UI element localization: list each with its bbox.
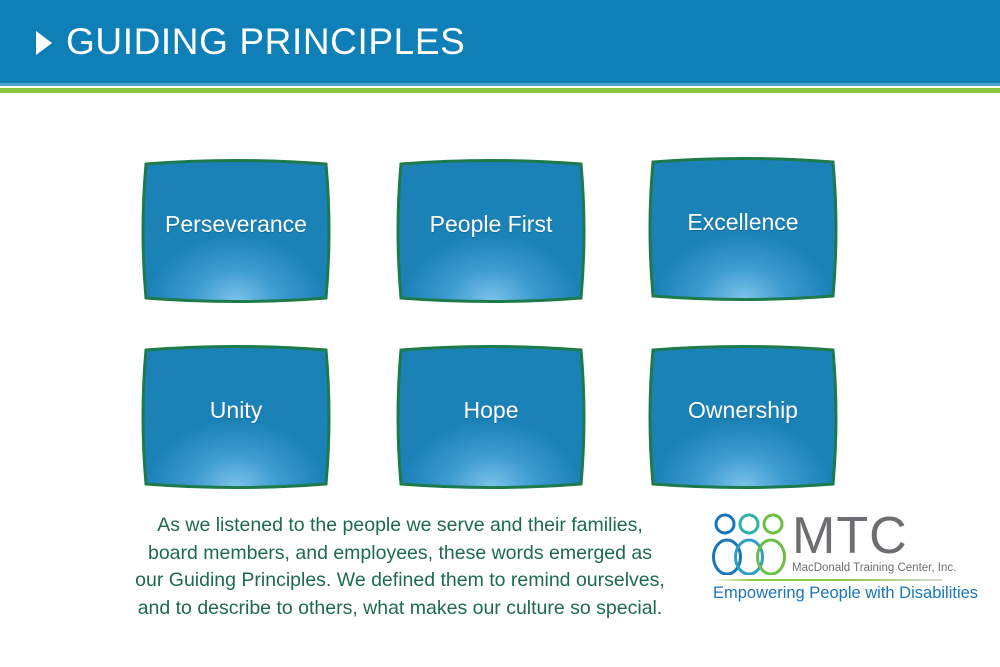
logo-wordmark-group: MTC MacDonald Training Center, Inc. xyxy=(792,511,942,575)
principle-box-perseverance[interactable]: Perseverance xyxy=(136,156,336,306)
principle-box-unity[interactable]: Unity xyxy=(136,342,336,492)
body-line: board members, and employees, these word… xyxy=(120,540,680,568)
mtc-logo: MTC MacDonald Training Center, Inc. Empo… xyxy=(710,513,942,603)
body-line: As we listened to the people we serve an… xyxy=(120,512,680,540)
logo-organization-name: MacDonald Training Center, Inc. xyxy=(792,562,942,574)
principle-box-excellence[interactable]: Excellence xyxy=(643,154,843,304)
logo-wordmark: MTC xyxy=(792,511,942,561)
principle-label: People First xyxy=(391,156,591,306)
three-people-icon xyxy=(710,513,788,575)
logo-divider xyxy=(712,579,942,581)
logo-tagline: Empowering People with Disabilities xyxy=(713,583,945,603)
body-paragraph: As we listened to the people we serve an… xyxy=(120,512,680,623)
body-line: and to describe to others, what makes ou… xyxy=(120,595,680,623)
principle-label: Hope xyxy=(391,342,591,492)
logo-top-row: MTC MacDonald Training Center, Inc. xyxy=(710,513,942,579)
body-line: our Guiding Principles. We defined them … xyxy=(120,567,680,595)
principle-label: Ownership xyxy=(643,342,843,492)
principle-box-ownership[interactable]: Ownership xyxy=(643,342,843,492)
principle-label: Excellence xyxy=(643,154,843,304)
principle-box-hope[interactable]: Hope xyxy=(391,342,591,492)
principle-label: Perseverance xyxy=(136,156,336,306)
principle-box-people-first[interactable]: People First xyxy=(391,156,591,306)
principle-label: Unity xyxy=(136,342,336,492)
